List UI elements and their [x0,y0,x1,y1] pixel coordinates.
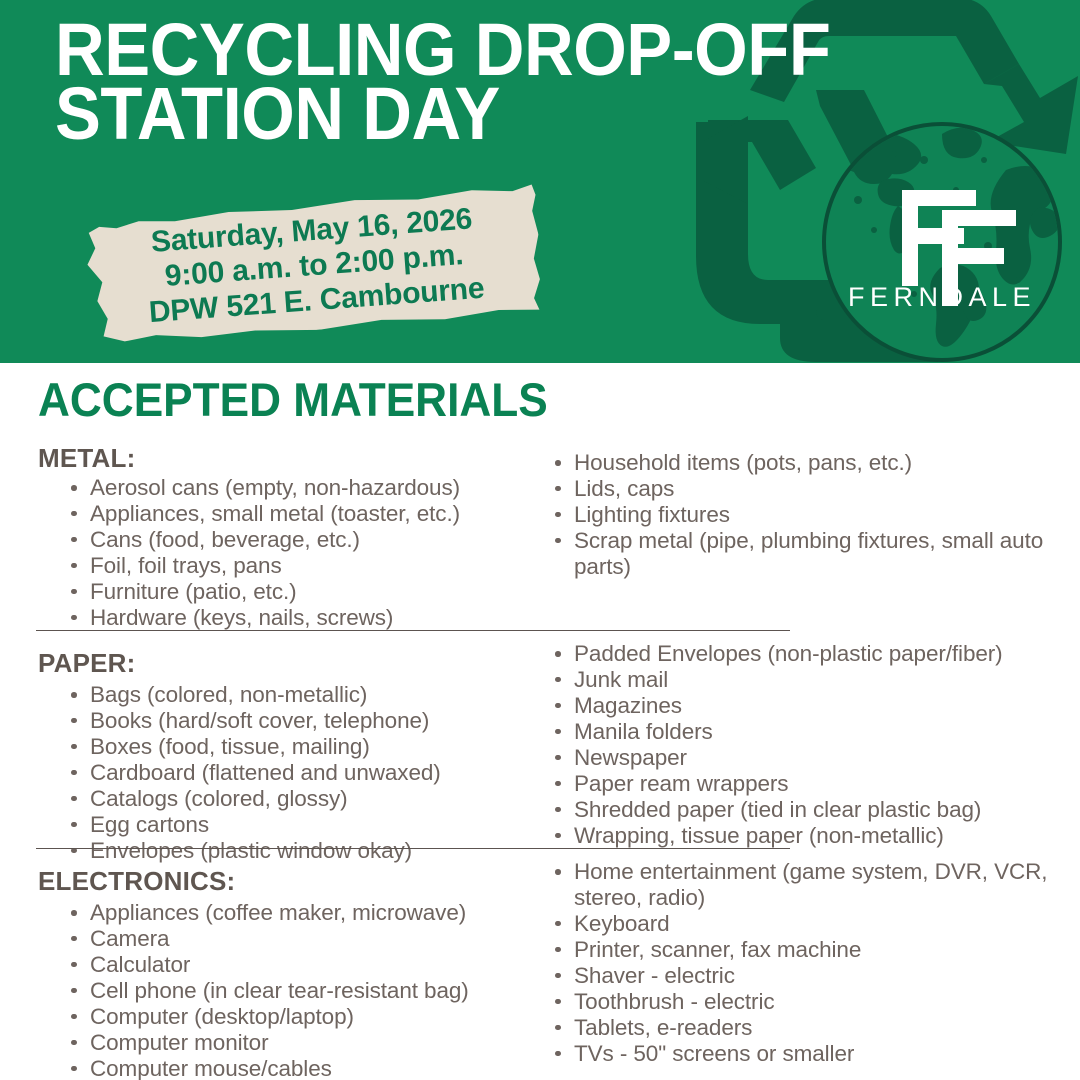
list-item: Manila folders [548,719,1058,745]
list-item: Boxes (food, tissue, mailing) [64,734,534,760]
list-item: Appliances (coffee maker, microwave) [64,900,534,926]
list-item: Appliances, small metal (toaster, etc.) [64,501,534,527]
list-item: Wrapping, tissue paper (non-metallic) [548,823,1058,849]
list-item: Home entertainment (game system, DVR, VC… [548,859,1058,911]
metal-list-right: Household items (pots, pans, etc.) Lids,… [548,450,1058,580]
globe-icon: FERNDALE [824,124,1060,360]
section-title-electronics: ELECTRONICS: [38,868,235,894]
section-title-metal: METAL: [38,445,135,471]
list-item: TVs - 50" screens or smaller [548,1041,1058,1067]
list-item: Junk mail [548,667,1058,693]
section-title-paper: PAPER: [38,650,136,676]
list-item: Lighting fixtures [548,502,1058,528]
event-details-text: Saturday, May 16, 2026 9:00 a.m. to 2:00… [85,198,543,335]
electronics-list-right: Home entertainment (game system, DVR, VC… [548,859,1058,1067]
electronics-list-left: Appliances (coffee maker, microwave) Cam… [64,900,534,1080]
list-item: Keyboard [548,911,1058,937]
list-item: Books (hard/soft cover, telephone) [64,708,534,734]
title-line-2: Station Day [55,82,706,146]
list-item: Shaver - electric [548,963,1058,989]
list-item: Household items (pots, pans, etc.) [548,450,1058,476]
list-item: Computer (desktop/laptop) [64,1004,534,1030]
recycling-flyer: FERNDALE Recycling Drop-Off Station Day … [0,0,1080,1080]
list-item: Tablets, e-readers [548,1015,1058,1041]
list-item: Catalogs (colored, glossy) [64,786,534,812]
list-item: Padded Envelopes (non-plastic paper/fibe… [548,641,1058,667]
list-item: Newspaper [548,745,1058,771]
list-item: Toothbrush - electric [548,989,1058,1015]
list-item: Cardboard (flattened and unwaxed) [64,760,534,786]
list-item: Cell phone (in clear tear-resistant bag) [64,978,534,1004]
list-item: Bags (colored, non-metallic) [64,682,534,708]
paper-list-left: Bags (colored, non-metallic) Books (hard… [64,682,534,864]
list-item: Envelopes (plastic window okay) [64,838,534,864]
paper-list-right: Padded Envelopes (non-plastic paper/fibe… [548,641,1058,849]
list-item: Shredded paper (tied in clear plastic ba… [548,797,1058,823]
accepted-materials-heading: Accepted Materials [38,376,548,423]
list-item: Paper ream wrappers [548,771,1058,797]
list-item: Printer, scanner, fax machine [548,937,1058,963]
page-title: Recycling Drop-Off Station Day [55,18,706,145]
list-item: Magazines [548,693,1058,719]
list-item: Egg cartons [64,812,534,838]
list-item: Furniture (patio, etc.) [64,579,534,605]
list-item: Lids, caps [548,476,1058,502]
list-item: Foil, foil trays, pans [64,553,534,579]
list-item: Camera [64,926,534,952]
event-details-banner: Saturday, May 16, 2026 9:00 a.m. to 2:00… [84,182,544,347]
metal-list-left: Aerosol cans (empty, non-hazardous) Appl… [64,475,534,631]
flyer-body: Accepted Materials METAL: Aerosol cans (… [0,363,1080,1080]
list-item: Computer monitor [64,1030,534,1056]
list-item: Hardware (keys, nails, screws) [64,605,534,631]
list-item: Cans (food, beverage, etc.) [64,527,534,553]
list-item: Scrap metal (pipe, plumbing fixtures, sm… [548,528,1058,580]
section-divider-electronics [36,848,790,849]
section-divider-paper [36,630,790,631]
ferndale-wordmark: FERNDALE [848,282,1036,312]
list-item: Computer mouse/cables [64,1056,534,1080]
flyer-header: FERNDALE Recycling Drop-Off Station Day … [0,0,1080,363]
list-item: Calculator [64,952,534,978]
list-item: Aerosol cans (empty, non-hazardous) [64,475,534,501]
